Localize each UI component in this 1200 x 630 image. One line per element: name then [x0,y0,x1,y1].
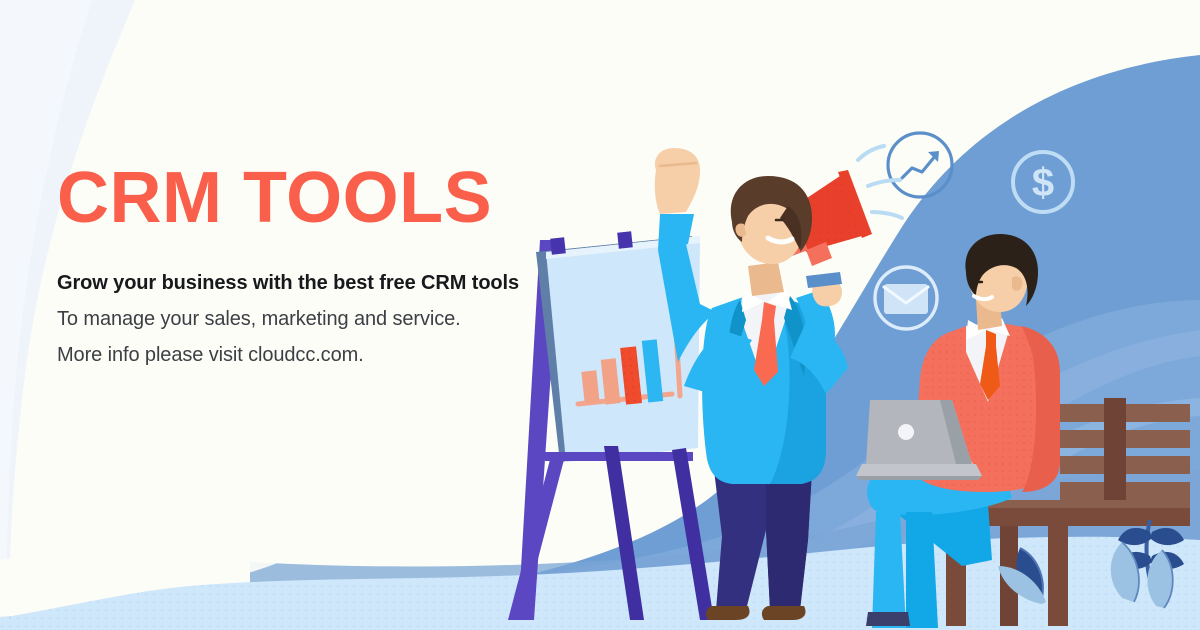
tagline: Grow your business with the best free CR… [57,236,527,294]
laptop-base [856,464,982,476]
trending-up-icon-line [902,155,936,178]
decorative-plants [998,520,1184,608]
plant-right [1111,520,1184,608]
seated-shoe [866,612,910,626]
presenter-shoe-left [706,606,750,620]
megaphone-sound-line [858,146,884,160]
trending-up-icon [888,133,952,197]
bench-leg [1048,526,1068,626]
badge-trending-up [888,133,952,197]
dollar-icon-glyph: $ [1032,161,1054,205]
subline-2: More info please visit cloudcc.com. [57,330,527,366]
easel-clip-left [550,237,566,254]
bench-back-post [1104,398,1126,508]
presenter-shoe-right [762,606,806,620]
presenter-neck [748,262,784,296]
laptop-base-shadow [856,476,982,480]
badge-dollar: $ [1013,152,1073,212]
page-title: CRM TOOLS [57,160,527,236]
easel-leg-front-right [672,448,714,620]
crm-tools-banner: $ [0,0,1200,630]
seated-shin [872,512,906,628]
presenter-trousers-shadow [766,470,812,610]
laptop-logo [898,424,914,440]
easel-clip-right [617,231,633,248]
presenter-fist [655,148,700,214]
envelope-icon-body [884,284,928,314]
megaphone-sound-line [872,212,902,218]
badge-envelope [875,267,937,329]
subline-1: To manage your sales, marketing and serv… [57,294,527,330]
easel-leg-mid [604,446,644,620]
headline-text-block: CRM TOOLS Grow your business with the be… [57,160,527,366]
